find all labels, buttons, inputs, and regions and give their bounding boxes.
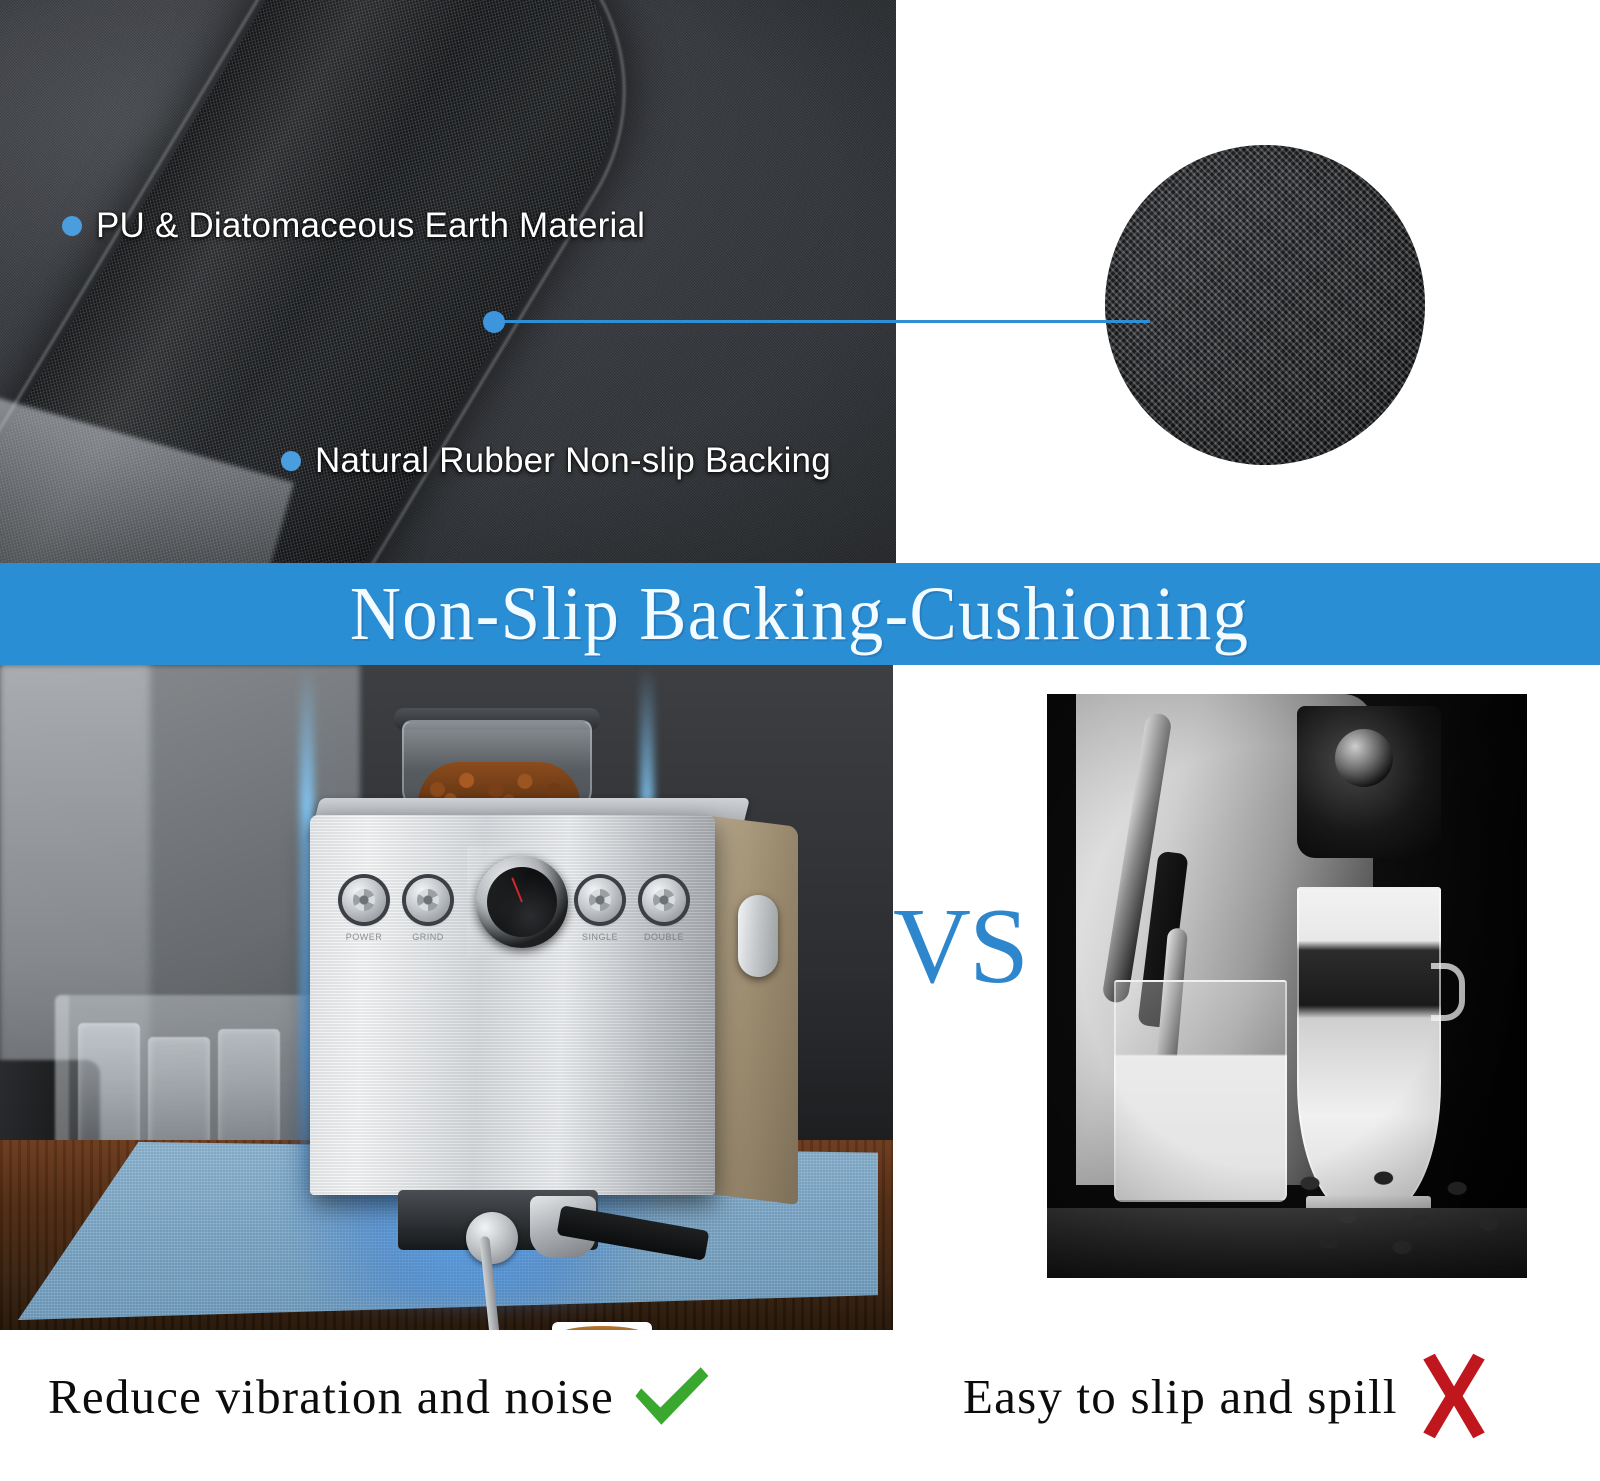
pressure-gauge: [476, 856, 568, 948]
espresso-machine-on-mat-photo: POWER GRIND SINGLE DOUBLE: [0, 665, 893, 1330]
steam-wand-knob[interactable]: [466, 1212, 518, 1264]
power-button[interactable]: [342, 878, 386, 922]
bw-vignette: [1047, 694, 1527, 1278]
product-feature-image: PU & Diatomaceous Earth Material Natural…: [0, 0, 1600, 1481]
top-panel: PU & Diatomaceous Earth Material Natural…: [0, 0, 1600, 563]
caption-row: Reduce vibration and noise Easy to slip …: [0, 1330, 1600, 1481]
single-shot-label: SINGLE: [570, 932, 630, 942]
caption-right: Easy to slip and spill: [963, 1348, 1502, 1444]
bullet-dot-icon: [281, 451, 301, 471]
bullet-dot-icon: [62, 216, 82, 236]
vs-label: VS: [880, 887, 1040, 1007]
headline-banner: Non-Slip Backing-Cushioning: [0, 563, 1600, 665]
banner-title: Non-Slip Backing-Cushioning: [350, 571, 1250, 658]
machine-side-panel: [710, 816, 798, 1205]
espresso-cup: [552, 1322, 652, 1330]
slipping-machine-photo: [1047, 694, 1527, 1278]
label-pu-material-text: PU & Diatomaceous Earth Material: [96, 206, 645, 246]
gauge-glass-reflection: [467, 847, 531, 957]
comparison-row: POWER GRIND SINGLE DOUBLE: [0, 665, 1600, 1330]
grind-size-knob[interactable]: [738, 895, 778, 977]
single-shot-button[interactable]: [578, 878, 622, 922]
callout-dot: [483, 311, 505, 333]
label-pu-material: PU & Diatomaceous Earth Material: [62, 206, 645, 246]
cross-mark-icon: [1406, 1348, 1502, 1444]
caption-left: Reduce vibration and noise: [48, 1348, 718, 1444]
control-panel: POWER GRIND SINGLE DOUBLE: [334, 848, 694, 958]
double-shot-button[interactable]: [642, 878, 686, 922]
caption-left-text: Reduce vibration and noise: [48, 1368, 614, 1425]
double-shot-label: DOUBLE: [634, 932, 694, 942]
grind-button[interactable]: [406, 878, 450, 922]
callout-line: [493, 320, 1150, 323]
fabric-texture-circle: [1105, 145, 1425, 465]
caption-right-text: Easy to slip and spill: [963, 1368, 1398, 1425]
label-rubber-backing-text: Natural Rubber Non-slip Backing: [315, 441, 831, 481]
check-mark-icon: [622, 1348, 718, 1444]
grind-button-label: GRIND: [398, 932, 458, 942]
herringbone-weave: [1105, 145, 1425, 465]
power-button-label: POWER: [334, 932, 394, 942]
label-rubber-backing: Natural Rubber Non-slip Backing: [281, 441, 831, 481]
espresso-machine: POWER GRIND SINGLE DOUBLE: [290, 720, 790, 1285]
